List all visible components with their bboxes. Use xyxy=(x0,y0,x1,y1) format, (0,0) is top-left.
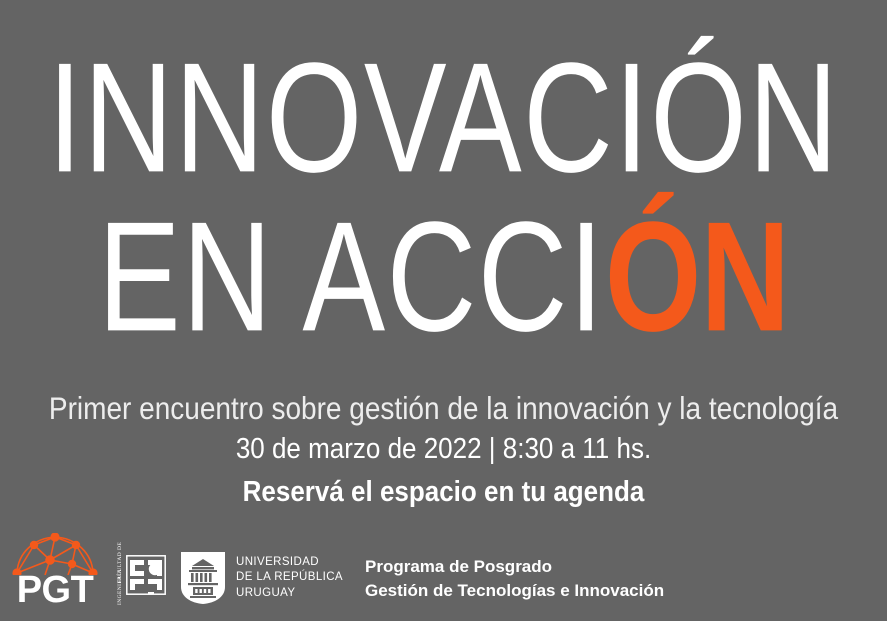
headline-line-2: EN ACCIÓN xyxy=(13,201,873,354)
event-datetime: 30 de marzo de 2022 | 8:30 a 11 hs. xyxy=(0,431,887,466)
headline-block: INNOVACIÓN EN ACCIÓN xyxy=(0,42,887,327)
footer-logo-row: PGT FACULTAD DE INGENIERÍA xyxy=(12,529,875,609)
udelar-shield-icon xyxy=(180,551,226,605)
fing-emblem-icon xyxy=(126,555,166,603)
udelar-wordmark: UNIVERSIDAD DE LA REPÚBLICA URUGUAY xyxy=(236,555,343,602)
headline-accent-word: ÓN xyxy=(605,190,789,364)
pgt-wordmark: PGT xyxy=(12,571,98,609)
fing-side-text: FACULTAD DE INGENIERÍA xyxy=(114,553,125,605)
udelar-line-3: URUGUAY xyxy=(236,586,343,602)
event-description: Primer encuentro sobre gestión de la inn… xyxy=(0,391,887,427)
subtitle-block: Primer encuentro sobre gestión de la inn… xyxy=(0,393,887,507)
fing-side-bottom: INGENIERÍA xyxy=(117,569,123,605)
programa-line-1: Programa de Posgrado xyxy=(365,555,664,579)
fing-logo: FACULTAD DE INGENIERÍA xyxy=(114,553,166,605)
udelar-line-2: DE LA REPÚBLICA xyxy=(236,570,343,586)
headline-line-1: INNOVACIÓN xyxy=(13,42,873,195)
programa-line-2: Gestión de Tecnologías e Innovación xyxy=(365,579,664,603)
headline-line-2-plain: EN ACCI xyxy=(98,190,605,364)
pgt-logo: PGT xyxy=(12,533,98,609)
event-call-to-action: Reservá el espacio en tu agenda xyxy=(0,474,887,509)
udelar-line-1: UNIVERSIDAD xyxy=(236,555,343,571)
udelar-logo: UNIVERSIDAD DE LA REPÚBLICA URUGUAY xyxy=(180,551,343,605)
poster-canvas: INNOVACIÓN EN ACCIÓN Primer encuentro so… xyxy=(0,0,887,621)
programa-block: Programa de Posgrado Gestión de Tecnolog… xyxy=(365,555,664,603)
